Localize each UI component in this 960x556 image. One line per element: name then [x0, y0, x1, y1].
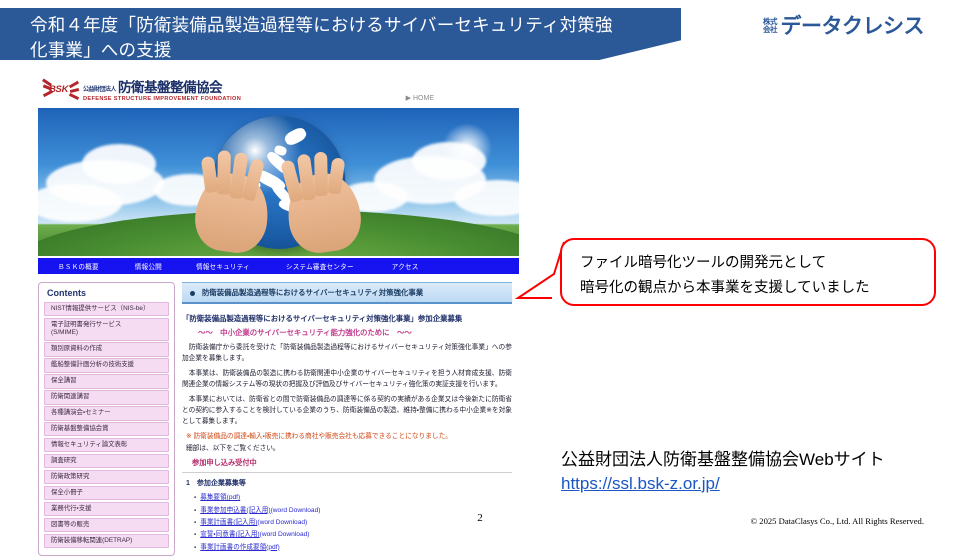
- download-list-heading: 1参加企業募集等: [186, 478, 512, 488]
- list-item[interactable]: ・募集要領(pdf): [194, 491, 512, 501]
- list-item[interactable]: ・宣誓・同意書(記入用)(word Download): [194, 528, 512, 538]
- list-item[interactable]: ・事業参加申込書(記入用)(word Download): [194, 504, 512, 514]
- sidebar-item-policy[interactable]: 防衛政策研究: [44, 470, 169, 484]
- website-header: BSK 公益財団法人 防衛基盤整備協会 DEFENSE STRUCTURE IM…: [38, 78, 519, 108]
- download-list-number: 1: [186, 480, 190, 487]
- contents-sidebar: Contents NIST情報提供サービス（NIS-be） 電子証明書発行サービ…: [38, 282, 175, 556]
- website-main-content: 防衛装備品製造過程等におけるサイバーセキュリティ対策強化事業 「防衛装備品製造過…: [182, 282, 512, 556]
- website-nav: ＢＳＫの概要 情報公開 情報セキュリティ システム審査センター アクセス: [38, 256, 519, 274]
- page-title: 令和４年度「防衛装備品製造過程等におけるサイバーセキュリティ対策強化事業」への支…: [30, 13, 630, 63]
- nav-item-disclosure[interactable]: 情報公開: [135, 261, 162, 271]
- recruit-status: 参加申し込み受付中: [192, 458, 512, 468]
- copyright-notice: © 2025 DataClasys Co., Ltd. All Rights R…: [751, 516, 924, 526]
- brand-name: データクレシス: [781, 16, 925, 37]
- website-reference-url[interactable]: https://ssl.bsk-z.or.jp/: [561, 472, 720, 496]
- bullet-dot-icon: ・: [194, 494, 196, 501]
- contents-title: Contents: [47, 288, 169, 298]
- bsk-website-screenshot: BSK 公益財団法人 防衛基盤整備協会 DEFENSE STRUCTURE IM…: [38, 78, 519, 533]
- callout-bubble: ファイル暗号化ツールの開発元として 暗号化の観点から本事業を支援していました: [560, 238, 936, 306]
- content-subheading: ～～ 中小企業のサイバーセキュリティ能力強化のために ～～: [198, 327, 512, 338]
- download-link-suffix-1: (word Download): [271, 507, 321, 514]
- sidebar-item-research[interactable]: 調査研究: [44, 454, 169, 468]
- nav-item-overview[interactable]: ＢＳＫの概要: [58, 261, 99, 271]
- bsk-name-en: DEFENSE STRUCTURE IMPROVEMENT FOUNDATION: [83, 96, 241, 102]
- sidebar-item-award[interactable]: 防衛基盤整備協会賞: [44, 422, 169, 436]
- bullet-dot-icon: ・: [194, 507, 196, 514]
- sidebar-item-kansen[interactable]: 艦船整備計画分析の技術支援: [44, 358, 169, 372]
- content-banner-label: 防衛装備品製造過程等におけるサイバーセキュリティ対策強化事業: [202, 288, 423, 297]
- download-link-moushikomi[interactable]: 事業参加申込書(記入用): [200, 507, 270, 514]
- dataclasys-logo: 株式会社 データクレシス: [762, 16, 925, 37]
- website-reference: 公益財団法人防衛基盤整備協会Webサイト https://ssl.bsk-z.o…: [561, 448, 941, 496]
- bsk-wing-icon: BSK: [42, 80, 80, 102]
- bullet-dot-icon: ・: [194, 531, 196, 538]
- sidebar-item-books[interactable]: 図書等の販売: [44, 518, 169, 532]
- content-note-sub: 細部は、以下をご覧ください。: [186, 444, 512, 455]
- bullet-dot-icon: ・: [194, 544, 196, 551]
- content-banner: 防衛装備品製造過程等におけるサイバーセキュリティ対策強化事業: [182, 282, 512, 304]
- list-item[interactable]: ・事業計画書の作成要領(pdf): [194, 541, 512, 551]
- list-item[interactable]: ・事業計画書(記入用)(word Download): [194, 516, 512, 526]
- bsk-mark-label: BSK: [49, 84, 68, 95]
- bsk-logo: BSK 公益財団法人 防衛基盤整備協会 DEFENSE STRUCTURE IM…: [42, 80, 241, 102]
- sidebar-item-boei-koshu[interactable]: 防衛関連講習: [44, 390, 169, 404]
- sidebar-item-seminar[interactable]: 各種講演会・セミナー: [44, 406, 169, 420]
- content-note: ※ 防衛装備品の調達・輸入・販売に携わる商社や販売会社も応募できることになりまし…: [186, 432, 512, 443]
- download-link-suffix-3: (word Download): [260, 531, 310, 538]
- sidebar-item-booklet[interactable]: 保全小冊子: [44, 486, 169, 500]
- bullet-icon: [190, 291, 195, 296]
- download-link-boshu-yoryo[interactable]: 募集要領(pdf): [200, 494, 240, 501]
- website-reference-label: 公益財団法人防衛基盤整備協会Webサイト: [561, 448, 941, 472]
- bsk-logo-text: 公益財団法人 防衛基盤整備協会 DEFENSE STRUCTURE IMPROV…: [83, 81, 241, 102]
- page-number: 2: [477, 512, 483, 524]
- nav-item-access[interactable]: アクセス: [392, 261, 419, 271]
- nav-item-security[interactable]: 情報セキュリティ: [196, 261, 250, 271]
- divider: [182, 472, 512, 473]
- download-list-title: 参加企業募集等: [197, 480, 246, 487]
- home-link[interactable]: ▶ HOME: [406, 94, 434, 102]
- content-paragraph-1: 防衛装備庁から委託を受けた「防衛装備品製造過程等におけるサイバーセキュリティ対策…: [182, 343, 512, 364]
- brand-prefix: 株式会社: [762, 18, 779, 34]
- callout-text: ファイル暗号化ツールの開発元として 暗号化の観点から本事業を支援していました: [580, 251, 870, 301]
- download-link-keikakusho[interactable]: 事業計画書(記入用): [200, 519, 257, 526]
- sidebar-item-smime[interactable]: 電子証明書発行サービス (S/MIME): [44, 318, 169, 341]
- bsk-koeki-label: 公益財団法人: [83, 84, 116, 93]
- sidebar-item-ruibetsu[interactable]: 類別原資料の作成: [44, 342, 169, 356]
- content-paragraph-3: 本事業においては、防衛省との間で防衛装備品の調達等に係る契約の実績がある企業又は…: [182, 395, 512, 427]
- nav-item-audit-center[interactable]: システム審査センター: [286, 261, 354, 271]
- sidebar-item-nist[interactable]: NIST情報提供サービス（NIS-be）: [44, 302, 169, 316]
- bsk-name-ja: 防衛基盤整備協会: [118, 81, 222, 95]
- sidebar-item-agency[interactable]: 業務代行・支援: [44, 502, 169, 516]
- sidebar-item-paper[interactable]: 情報セキュリティ論文表彰: [44, 438, 169, 452]
- download-link-suffix-2: (word Download): [257, 519, 307, 526]
- sidebar-item-hozen[interactable]: 保全講習: [44, 374, 169, 388]
- content-heading: 「防衛装備品製造過程等におけるサイバーセキュリティ対策強化事業」参加企業募集: [182, 313, 512, 324]
- content-paragraph-2: 本事業は、防衛装備品の製造に携わる防衛関連中小企業のサイバーセキュリティを担う人…: [182, 369, 512, 390]
- sidebar-item-detrap[interactable]: 防衛装備移転関連(DETRAP): [44, 534, 169, 548]
- download-link-seisei-doui[interactable]: 宣誓・同意書(記入用): [200, 531, 259, 538]
- download-link-sakusei-yoryo[interactable]: 事業計画書の作成要領(pdf): [200, 544, 280, 551]
- bullet-dot-icon: ・: [194, 519, 196, 526]
- hero-image: [38, 108, 519, 256]
